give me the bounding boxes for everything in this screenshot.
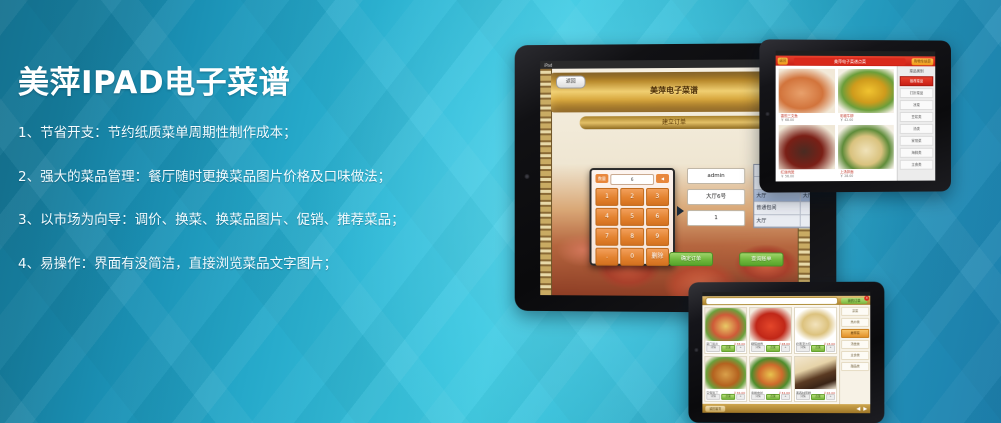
dish-photo — [795, 357, 836, 390]
next-page-icon[interactable]: ▶ — [863, 406, 867, 412]
dish-price: ￥ 68.00 — [781, 117, 794, 122]
dish-photo — [750, 308, 791, 341]
category-sidebar-title: 菜品类别 — [900, 69, 934, 74]
dish-grid: 香煎三文鱼 ￥ 68.00 彩椒牛柳 ￥ 42.00 红烧肉煲 ￥ 56.00 — [776, 66, 897, 182]
key-3[interactable]: 3 — [646, 188, 669, 206]
dish-order-button[interactable]: 点菜 — [811, 394, 825, 401]
key-clear[interactable]: 删除 — [646, 248, 669, 266]
category-item-discount[interactable]: 打折菜品 — [900, 88, 934, 98]
dish-detail-button[interactable]: 详情 — [796, 394, 810, 401]
feature-bullet-1: 1、节省开支：节约纸质菜单周期性制作成本； — [18, 124, 448, 144]
dish-card[interactable]: 黑森林蛋糕 ￥26.00 详情 点菜 + — [794, 356, 837, 403]
cart-badge: 3 — [864, 295, 869, 300]
status-carrier: iPad — [544, 62, 552, 67]
pointer-arrow-icon — [677, 206, 684, 216]
key-2[interactable]: 2 — [621, 188, 644, 206]
table-cell[interactable]: 大厅 — [754, 215, 800, 228]
key-7[interactable]: 7 — [595, 228, 618, 246]
key-0[interactable]: 0 — [621, 248, 644, 266]
keypad-display-row: 数量 6 ◀ — [595, 174, 669, 185]
app-header-bar: 我的订单 3 — [702, 296, 870, 305]
user-field[interactable]: admin — [687, 168, 745, 184]
cart-checkout-button[interactable]: 购物车结算 — [912, 58, 934, 65]
dish-card[interactable]: 彩椒牛柳 ￥ 42.00 — [838, 69, 894, 122]
dish-photo — [779, 125, 835, 169]
order-fields: admin 大厅6号 1 — [687, 168, 745, 231]
dish-photo — [705, 308, 746, 340]
home-button[interactable]: 返回首页 — [705, 405, 725, 411]
dish-add-button[interactable]: + — [781, 393, 790, 400]
tablet-top-right-device: 返回 美萍电子菜谱点菜 购物车结算 香煎三文鱼 ￥ 68.00 彩椒牛柳 ￥ 4… — [759, 39, 951, 192]
dish-price: ￥ 56.00 — [781, 173, 794, 178]
tablet-bottom-right-screen: 我的订单 3 爽口鸡片 ￥38.00 详情 点菜 + — [702, 292, 870, 413]
dish-order-button[interactable]: 点菜 — [721, 345, 735, 351]
dish-card[interactable]: 糖醋排骨 ￥48.00 详情 点菜 + — [749, 307, 792, 354]
tablet-bottom-right-device: 我的订单 3 爽口鸡片 ￥38.00 详情 点菜 + — [688, 282, 884, 423]
dish-actions: 详情 点菜 + — [796, 345, 835, 352]
key-1[interactable]: 1 — [595, 188, 618, 206]
marketing-copy: 美萍IPAD电子菜谱 1、节省开支：节约纸质菜单周期性制作成本； 2、强大的菜品… — [18, 66, 448, 298]
sub-title: 建立订单 — [580, 116, 770, 130]
keypad-display[interactable]: 6 — [610, 174, 654, 185]
home-button-icon — [525, 174, 530, 179]
back-button[interactable]: 返回 — [556, 76, 586, 89]
app-footer-bar: 返回首页 ◀ ▶ — [702, 404, 870, 413]
table-cell[interactable]: 普通包间 — [754, 202, 800, 215]
dish-grid: 爽口鸡片 ￥38.00 详情 点菜 + 糖醋排骨 ￥48.00 详情 — [702, 305, 839, 404]
dish-card[interactable]: 宫保鸡丁 ￥36.00 详情 点菜 + — [704, 355, 747, 401]
feature-bullet-4: 4、易操作：界面有没简洁，直接浏览菜品文字图片； — [18, 255, 448, 275]
promo-banner: 美萍IPAD电子菜谱 1、节省开支：节约纸质菜单周期性制作成本； 2、强大的菜品… — [0, 0, 1001, 423]
category-sidebar: 菜品类别 推荐菜品 打折菜品 凉菜 豆浆类 汤类 家常菜 海鲜类 主食类 — [897, 66, 935, 181]
query-bill-button[interactable]: 查询账单 — [739, 252, 783, 266]
category-item-cold[interactable]: 凉菜 — [900, 100, 934, 110]
dish-price: ￥ 28.00 — [840, 173, 853, 178]
keypad-label: 数量 — [595, 174, 608, 183]
category-item-recommended[interactable]: 推荐菜 — [841, 329, 869, 338]
my-order-button[interactable]: 我的订单 3 — [841, 297, 867, 303]
dish-add-button[interactable]: + — [826, 394, 835, 401]
dish-photo — [750, 356, 791, 389]
dish-detail-button[interactable]: 详情 — [751, 393, 765, 400]
dish-add-button[interactable]: + — [736, 393, 745, 400]
backspace-icon[interactable]: ◀ — [656, 174, 669, 183]
dish-order-button[interactable]: 点菜 — [766, 393, 780, 400]
category-item-staple[interactable]: 主食类 — [841, 351, 869, 360]
dish-photo — [838, 69, 894, 113]
dish-add-button[interactable]: + — [781, 345, 790, 352]
category-sidebar: 凉菜 热炒类 推荐菜 汤羹类 主食类 甜品类 — [839, 305, 870, 404]
key-9[interactable]: 9 — [646, 228, 669, 246]
dish-detail-button[interactable]: 详情 — [706, 393, 720, 400]
dish-actions: 详情 点菜 + — [706, 393, 745, 400]
tablet-top-right-screen: 返回 美萍电子菜谱点菜 购物车结算 香煎三文鱼 ￥ 68.00 彩椒牛柳 ￥ 4… — [776, 51, 936, 182]
category-item-recommended[interactable]: 推荐菜品 — [900, 76, 934, 86]
category-item-cold[interactable]: 凉菜 — [841, 307, 869, 316]
count-field[interactable]: 1 — [687, 210, 745, 226]
confirm-order-button[interactable]: 确定订单 — [669, 252, 713, 266]
search-input[interactable] — [705, 296, 838, 304]
dish-actions: 详情 点菜 + — [796, 394, 835, 401]
table-cell[interactable] — [801, 215, 810, 228]
back-button[interactable]: 返回 — [778, 57, 788, 64]
dish-photo — [838, 125, 894, 169]
category-item-soup[interactable]: 汤类 — [900, 124, 934, 134]
table-cell[interactable] — [801, 202, 810, 215]
page-title: 美萍IPAD电子菜谱 — [18, 66, 448, 100]
category-item-stirfry[interactable]: 热炒类 — [841, 318, 869, 327]
key-6[interactable]: 6 — [646, 208, 669, 226]
pagination-controls: ◀ ▶ — [856, 406, 867, 412]
category-item-staple[interactable]: 主食类 — [900, 160, 934, 170]
dish-order-button[interactable]: 点菜 — [766, 345, 780, 351]
dish-order-button[interactable]: 点菜 — [721, 393, 735, 400]
category-item-dessert[interactable]: 甜品类 — [841, 362, 869, 371]
sub-title-bar: 建立订单 — [580, 116, 770, 130]
action-buttons: 确定订单 查询账单 — [669, 252, 784, 267]
dish-photo — [779, 69, 835, 113]
dish-photo — [795, 308, 836, 341]
dish-actions: 详情 点菜 + — [751, 345, 790, 352]
dish-detail-button[interactable]: 详情 — [706, 345, 720, 351]
dish-photo — [705, 356, 746, 388]
feature-bullet-2: 2、强大的菜品管理：餐厅随时更换菜品图片价格及口味做法； — [18, 168, 448, 188]
dish-add-button[interactable]: + — [736, 345, 745, 351]
category-item-soup[interactable]: 汤羹类 — [841, 340, 869, 349]
dish-card[interactable]: 香煎三文鱼 ￥ 68.00 — [779, 69, 835, 122]
home-button-icon — [766, 112, 770, 116]
dish-actions: 详情 点菜 + — [751, 393, 790, 400]
key-4[interactable]: 4 — [595, 208, 618, 226]
dish-card[interactable]: 红烧肉煲 ￥ 56.00 — [779, 125, 835, 178]
dish-detail-button[interactable]: 详情 — [796, 345, 810, 352]
dish-detail-button[interactable]: 详情 — [751, 345, 765, 351]
feature-bullet-3: 3、以市场为向导：调价、换菜、换菜品图片、促销、推荐菜品； — [18, 211, 448, 231]
key-8[interactable]: 8 — [621, 228, 644, 246]
dish-card[interactable]: 青椒肉丝 ￥32.00 详情 点菜 + — [749, 355, 792, 402]
dish-price: ￥ 42.00 — [840, 117, 853, 122]
category-item-homestyle[interactable]: 家常菜 — [900, 136, 934, 146]
keypad-grid[interactable]: 1 2 3 4 5 6 7 8 9 . 0 删除 — [595, 188, 669, 266]
app-header-title: 美萍电子菜谱点菜 — [794, 57, 906, 65]
category-item-seafood[interactable]: 海鲜类 — [900, 148, 934, 158]
numeric-keypad[interactable]: 数量 6 ◀ 1 2 3 4 5 6 7 8 9 . — [590, 168, 675, 266]
dish-card[interactable]: 奶黄流沙包 ￥18.00 详情 点菜 + — [794, 307, 837, 354]
dish-card[interactable]: 上汤拌面 ￥ 28.00 — [838, 125, 894, 178]
dish-order-button[interactable]: 点菜 — [811, 345, 825, 352]
key-dot[interactable]: . — [595, 248, 618, 266]
dish-card[interactable]: 爽口鸡片 ￥38.00 详情 点菜 + — [704, 307, 747, 353]
menu-body: 爽口鸡片 ￥38.00 详情 点菜 + 糖醋排骨 ￥48.00 详情 — [702, 305, 870, 404]
dish-actions: 详情 点菜 + — [706, 345, 745, 351]
app-header-bar: 返回 美萍电子菜谱点菜 购物车结算 — [776, 56, 936, 67]
dish-add-button[interactable]: + — [826, 345, 835, 352]
prev-page-icon[interactable]: ◀ — [856, 406, 860, 412]
home-button-icon — [694, 348, 698, 352]
key-5[interactable]: 5 — [621, 208, 644, 226]
table-field[interactable]: 大厅6号 — [687, 189, 745, 205]
my-order-label: 我的订单 — [848, 298, 861, 302]
menu-body: 香煎三文鱼 ￥ 68.00 彩椒牛柳 ￥ 42.00 红烧肉煲 ￥ 56.00 — [776, 66, 936, 182]
category-item-soymilk[interactable]: 豆浆类 — [900, 112, 934, 122]
